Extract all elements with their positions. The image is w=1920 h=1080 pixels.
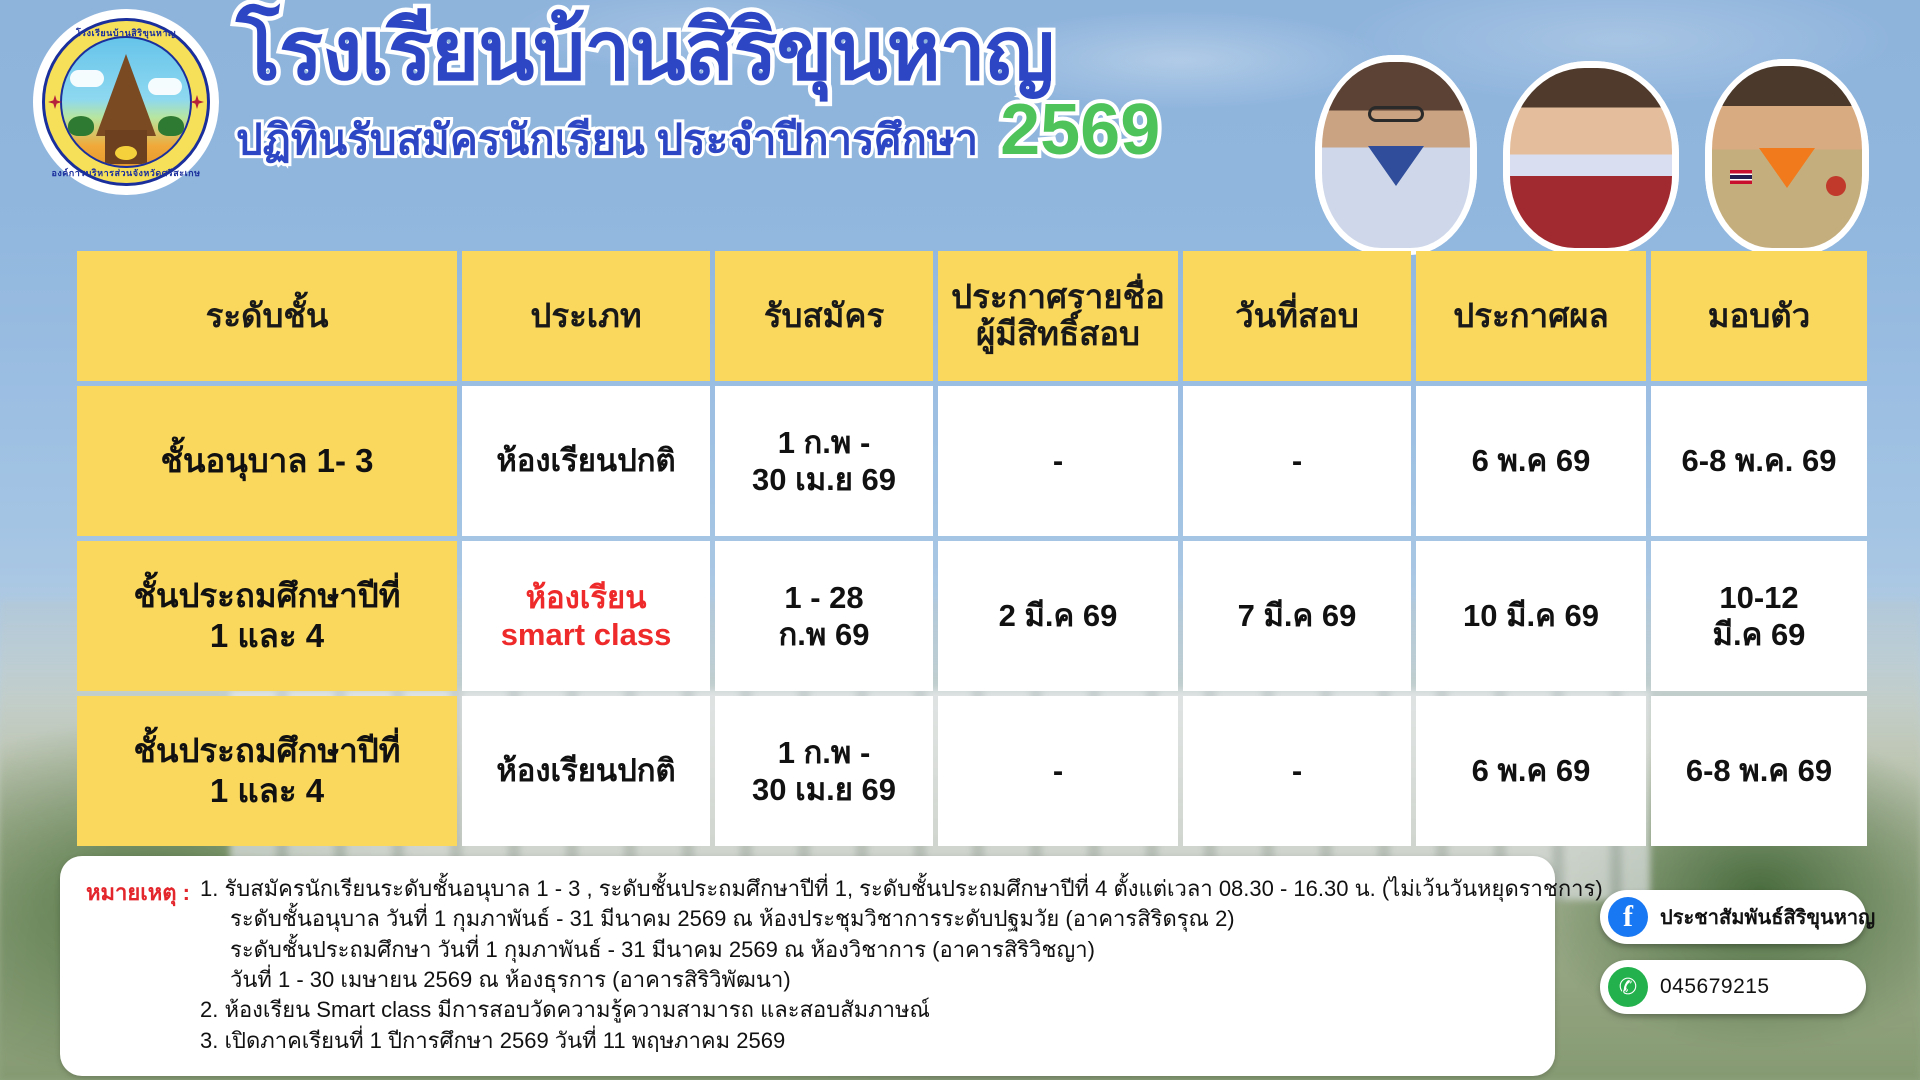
admission-calendar-poster: โรงเรียนบ้านสิริขุนหาญ องค์การบริหารส่วน… xyxy=(0,0,1920,1080)
cell-apply-line2: 30 เม.ย 69 xyxy=(721,771,927,808)
cell-level-line2: 1 และ 4 xyxy=(83,616,451,656)
column-header-result: ประกาศผล xyxy=(1416,251,1646,381)
cell-report-line1: 10-12 xyxy=(1657,579,1861,616)
facebook-icon: f xyxy=(1608,897,1648,937)
cell-exam-date: 7 มี.ค 69 xyxy=(1183,541,1411,691)
cell-report-line1: 6-8 พ.ค 69 xyxy=(1657,752,1861,789)
cell-level: ชั้นอนุบาล 1- 3 xyxy=(77,386,457,536)
table-row: ชั้นอนุบาล 1- 3 ห้องเรียนปกติ 1 ก.พ - 30… xyxy=(77,386,1867,536)
cell-level-line2: 1 และ 4 xyxy=(83,771,451,811)
logo-tree-icon xyxy=(68,116,94,136)
cell-apply-line1: 1 - 28 xyxy=(721,579,927,616)
cell-type: ห้องเรียนปกติ xyxy=(462,696,710,846)
logo-prang-tower-icon xyxy=(96,54,156,136)
cell-level-line1: ชั้นอนุบาล 1- 3 xyxy=(83,441,451,481)
cell-apply-line2: 30 เม.ย 69 xyxy=(721,461,927,498)
note-line-6: 3. เปิดภาคเรียนที่ 1 ปีการศึกษา 2569 วัน… xyxy=(200,1026,1603,1056)
phone-contact-pill[interactable]: ✆ 045679215 xyxy=(1600,960,1866,1014)
thai-flag-icon xyxy=(1730,170,1752,184)
cell-type-line2: smart class xyxy=(468,616,704,653)
cell-type: ห้องเรียนปกติ xyxy=(462,386,710,536)
phone-number: 045679215 xyxy=(1660,975,1770,999)
table-row: ชั้นประถมศึกษาปีที่ 1 และ 4 ห้องเรียน sm… xyxy=(77,541,1867,691)
logo-rim-text-bottom: องค์การบริหารส่วนจังหวัดศรีสะเกษ xyxy=(38,166,214,180)
cell-result-line1: 6 พ.ค 69 xyxy=(1422,752,1640,789)
column-header-eligible-list-line2: ผู้มีสิทธิ์สอบ xyxy=(976,315,1140,352)
cell-level: ชั้นประถมศึกษาปีที่ 1 และ 4 xyxy=(77,541,457,691)
cell-result: 6 พ.ค 69 xyxy=(1416,696,1646,846)
cell-apply-line2: ก.พ 69 xyxy=(721,616,927,653)
note-line-5: 2. ห้องเรียน Smart class มีการสอบวัดความ… xyxy=(200,995,1603,1025)
cell-apply-line1: 1 ก.พ - xyxy=(721,424,927,461)
facebook-contact-pill[interactable]: f ประชาสัมพันธ์สิริขุนหาญ xyxy=(1600,890,1866,944)
cell-level: ชั้นประถมศึกษาปีที่ 1 และ 4 xyxy=(77,696,457,846)
cell-eligible-list: - xyxy=(938,386,1178,536)
note-line-1: 1. รับสมัครนักเรียนระดับชั้นอนุบาล 1 - 3… xyxy=(200,874,1603,904)
cell-apply-period: 1 - 28 ก.พ 69 xyxy=(715,541,933,691)
logo-flower-icon xyxy=(115,146,137,160)
cell-report-line2: มี.ค 69 xyxy=(1657,616,1861,653)
student-photo-girl-kindergarten xyxy=(1510,68,1672,248)
table-row: ชั้นประถมศึกษาปีที่ 1 และ 4 ห้องเรียนปกต… xyxy=(77,696,1867,846)
cell-exam-date: - xyxy=(1183,386,1411,536)
notes-body: 1. รับสมัครนักเรียนระดับชั้นอนุบาล 1 - 3… xyxy=(200,874,1603,1056)
column-header-report: มอบตัว xyxy=(1651,251,1867,381)
phone-icon: ✆ xyxy=(1608,967,1648,1007)
cell-report: 6-8 พ.ค. 69 xyxy=(1651,386,1867,536)
title-block: โรงเรียนบ้านสิริขุนหาญ ปฏิทินรับสมัครนัก… xyxy=(236,10,1160,173)
column-header-apply-period: รับสมัคร xyxy=(715,251,933,381)
subtitle-row: ปฏิทินรับสมัครนักเรียน ประจำปีการศึกษา 2… xyxy=(236,98,1160,173)
cell-level-line1: ชั้นประถมศึกษาปีที่ xyxy=(83,576,451,616)
column-header-eligible-list-line1: ประกาศรายชื่อ xyxy=(951,278,1165,315)
note-line-4: วันที่ 1 - 30 เมษายน 2569 ณ ห้องธุรการ (… xyxy=(200,965,1603,995)
calendar-table-container: ระดับชั้น ประเภท รับสมัคร ประกาศรายชื่อ … xyxy=(72,246,1842,851)
cell-result-line1: 6 พ.ค 69 xyxy=(1422,442,1640,479)
cell-type-line1: ห้องเรียนปกติ xyxy=(468,752,704,789)
contact-pills: f ประชาสัมพันธ์สิริขุนหาญ ✆ 045679215 xyxy=(1600,890,1866,1030)
note-line-2: ระดับชั้นอนุบาล วันที่ 1 กุมภาพันธ์ - 31… xyxy=(200,904,1603,934)
logo-tree-icon xyxy=(158,116,184,136)
cell-report: 10-12 มี.ค 69 xyxy=(1651,541,1867,691)
logo-inner-scene xyxy=(60,36,192,168)
cell-type-line1: ห้องเรียนปกติ xyxy=(468,442,704,479)
admission-calendar-table: ระดับชั้น ประเภท รับสมัคร ประกาศรายชื่อ … xyxy=(72,246,1872,851)
glasses-icon xyxy=(1368,106,1424,122)
facebook-page-name: ประชาสัมพันธ์สิริขุนหาญ xyxy=(1660,901,1875,933)
poster-subtitle: ปฏิทินรับสมัครนักเรียน ประจำปีการศึกษา xyxy=(236,107,978,173)
scout-badge-icon xyxy=(1826,176,1846,196)
cell-result-line1: 10 มี.ค 69 xyxy=(1422,597,1640,634)
cell-apply-line1: 1 ก.พ - xyxy=(721,734,927,771)
cell-apply-period: 1 ก.พ - 30 เม.ย 69 xyxy=(715,386,933,536)
poster-header: โรงเรียนบ้านสิริขุนหาญ องค์การบริหารส่วน… xyxy=(0,0,1920,250)
cell-report: 6-8 พ.ค 69 xyxy=(1651,696,1867,846)
cell-result: 6 พ.ค 69 xyxy=(1416,386,1646,536)
cell-exam-date: - xyxy=(1183,696,1411,846)
cell-apply-period: 1 ก.พ - 30 เม.ย 69 xyxy=(715,696,933,846)
logo-rim-text-top: โรงเรียนบ้านสิริขุนหาญ xyxy=(38,26,214,40)
note-line-3: ระดับชั้นประถมศึกษา วันที่ 1 กุมภาพันธ์ … xyxy=(200,935,1603,965)
cell-type-smart-class: ห้องเรียน smart class xyxy=(462,541,710,691)
cell-report-line1: 6-8 พ.ค. 69 xyxy=(1657,442,1861,479)
cell-type-line1: ห้องเรียน xyxy=(468,579,704,616)
cell-eligible-list: 2 มี.ค 69 xyxy=(938,541,1178,691)
column-header-type: ประเภท xyxy=(462,251,710,381)
photo-body xyxy=(1510,68,1672,248)
column-header-eligible-list: ประกาศรายชื่อ ผู้มีสิทธิ์สอบ xyxy=(938,251,1178,381)
table-header-row: ระดับชั้น ประเภท รับสมัคร ประกาศรายชื่อ … xyxy=(77,251,1867,381)
notes-panel: หมายเหตุ : 1. รับสมัครนักเรียนระดับชั้นอ… xyxy=(60,856,1555,1076)
notes-label: หมายเหตุ : xyxy=(86,874,190,910)
cell-level-line1: ชั้นประถมศึกษาปีที่ xyxy=(83,731,451,771)
cell-result: 10 มี.ค 69 xyxy=(1416,541,1646,691)
column-header-level: ระดับชั้น xyxy=(77,251,457,381)
student-photo-boy-scout xyxy=(1712,66,1862,248)
column-header-exam-date: วันที่สอบ xyxy=(1183,251,1411,381)
notes-row: หมายเหตุ : 1. รับสมัครนักเรียนระดับชั้นอ… xyxy=(86,874,1531,1056)
school-logo: โรงเรียนบ้านสิริขุนหาญ องค์การบริหารส่วน… xyxy=(38,14,214,190)
academic-year: 2569 xyxy=(1000,98,1160,163)
cell-eligible-list: - xyxy=(938,696,1178,846)
school-name-title: โรงเรียนบ้านสิริขุนหาญ xyxy=(236,10,1160,94)
student-photo-girl-glasses xyxy=(1322,62,1470,248)
